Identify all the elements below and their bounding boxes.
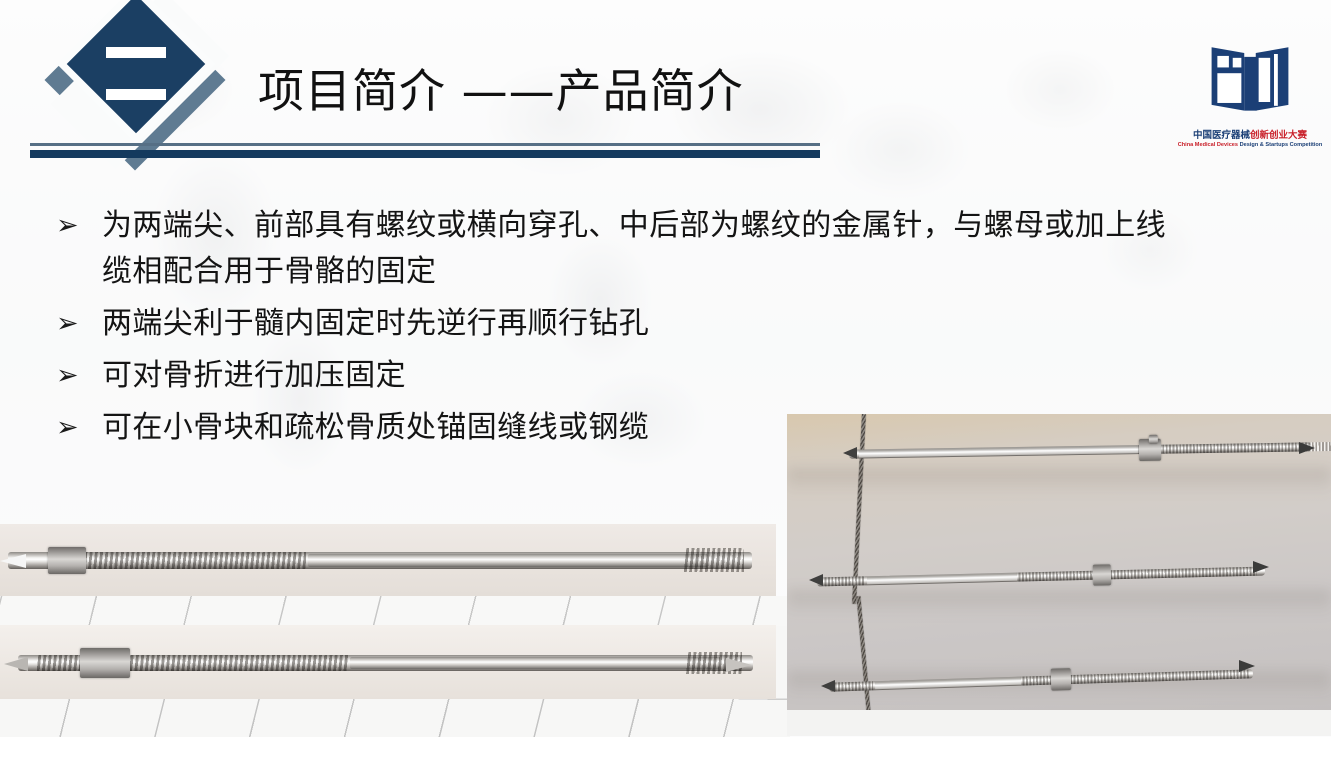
list-item: ➢ 可对骨折进行加压固定 <box>56 353 1216 399</box>
contest-logo: 中国医疗器械创新创业大赛 China Medical Devices Desig… <box>1177 8 1323 168</box>
pin-tip <box>843 447 857 459</box>
contest-name-cn: 中国医疗器械创新创业大赛 <box>1193 130 1307 141</box>
list-item-label: 可对骨折进行加压固定 <box>102 353 1216 399</box>
contest-name-en-part2: Design & Startups Competition <box>1240 142 1323 148</box>
contest-name-cn-part2: 创新创业大赛 <box>1250 130 1307 141</box>
pin-tip <box>4 657 28 671</box>
pin-tip <box>809 574 823 586</box>
pin-tip <box>0 554 26 568</box>
metal-pin <box>18 655 753 671</box>
title-rule-thick <box>30 150 820 158</box>
slide-header: 项目简介 ——产品简介 <box>0 0 1331 175</box>
list-item-label: 两端尖利于髓内固定时先逆行再顺行钻孔 <box>102 301 1216 347</box>
list-item-label: 为两端尖、前部具有螺纹或横向穿孔、中后部为螺纹的金属针，与螺母或加上线缆相配合用… <box>102 203 1192 295</box>
open-book-door-logo-icon <box>1202 30 1298 126</box>
hex-nut <box>48 547 86 574</box>
product-photo-pin-with-nut <box>0 524 776 596</box>
floor-tile-backdrop-top <box>0 596 790 626</box>
product-photo-pins-with-cable <box>787 414 1331 736</box>
slide-canvas: 项目简介 ——产品简介 <box>0 0 1331 759</box>
page-title: 项目简介 ——产品简介 <box>258 62 744 120</box>
list-item: ➢ 为两端尖、前部具有螺纹或横向穿孔、中后部为螺纹的金属针，与螺母或加上线缆相配… <box>56 203 1216 295</box>
hex-nut <box>1093 564 1112 585</box>
pin-tip <box>1239 660 1255 672</box>
bullet-arrow-icon: ➢ <box>56 405 102 451</box>
pin-tip <box>1299 442 1315 454</box>
slide-bottom-margin <box>0 737 1331 759</box>
hex-nut <box>1051 668 1072 691</box>
contest-name-en-part1: China Medical Devices <box>1178 142 1240 148</box>
metal-pin <box>8 552 752 569</box>
pin-tip <box>821 680 835 692</box>
bullet-arrow-icon: ➢ <box>56 353 102 399</box>
product-photo-pin-threaded <box>0 625 776 699</box>
contest-name-en: China Medical Devices Design & Startups … <box>1178 142 1323 149</box>
bullet-arrow-icon: ➢ <box>56 301 102 347</box>
hex-nut <box>80 648 130 678</box>
pin-tip <box>1253 561 1269 573</box>
contest-name-cn-part1: 中国医疗器械 <box>1193 130 1250 141</box>
list-item: ➢ 两端尖利于髓内固定时先逆行再顺行钻孔 <box>56 301 1216 347</box>
pin-tip <box>726 658 752 672</box>
diamond-equals-logo-icon <box>44 6 230 154</box>
photo-floor-edge <box>787 710 1331 736</box>
title-rule-thin <box>30 143 820 146</box>
bullet-arrow-icon: ➢ <box>56 203 102 249</box>
